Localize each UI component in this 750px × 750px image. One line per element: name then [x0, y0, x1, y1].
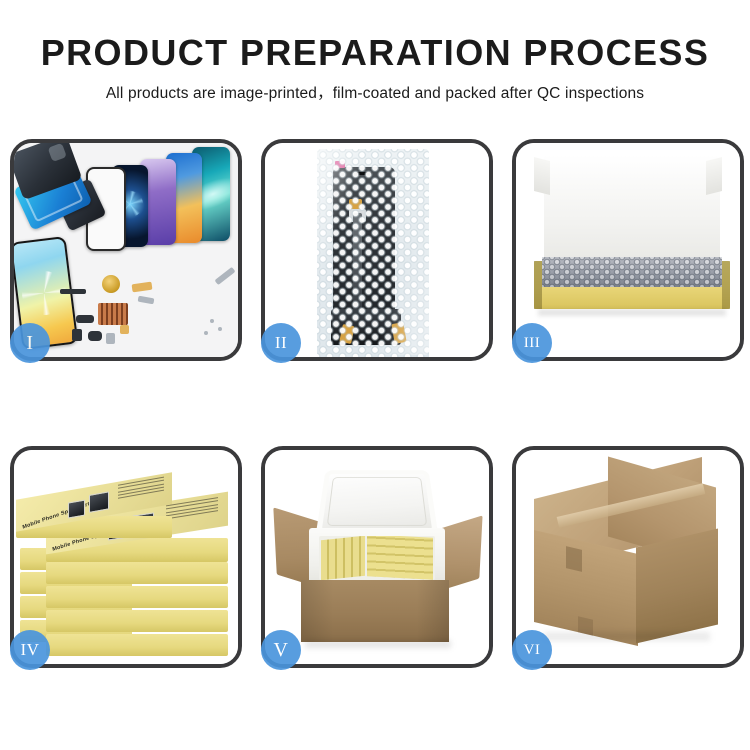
step-image-1: [14, 143, 238, 357]
photo-open-kraft-tray-box: [516, 143, 740, 357]
step-panel-2[interactable]: II: [261, 139, 493, 361]
page-subtitle: All products are image-printed，film-coat…: [0, 81, 750, 103]
stacked-box: [46, 610, 228, 632]
tray-contents: [542, 257, 722, 287]
box-stack: Mobile Phone Spare Parts Mobile Phone Sp…: [16, 468, 238, 658]
photo-stacked-kraft-boxes: Mobile Phone Spare Parts Mobile Phone Sp…: [14, 450, 238, 664]
carton-side-face: [636, 529, 718, 644]
photo-bubble-wrapped-screen: [265, 143, 489, 357]
plastic-sheen: [317, 143, 429, 355]
box-lid-flap-left: [534, 157, 550, 195]
connector-part: [76, 315, 94, 323]
stacked-box: [46, 562, 228, 584]
carton-flap-mark: [566, 546, 582, 572]
ic-chip-part: [98, 303, 128, 325]
packed-yellow-boxes: [321, 536, 365, 580]
carton-shadow: [544, 632, 710, 641]
screw-part: [218, 327, 222, 331]
photo-carton-with-foam-liner: [265, 450, 489, 664]
step-badge-1: I: [10, 323, 50, 363]
screw-part: [204, 331, 208, 335]
box-spec-lines: [166, 497, 218, 522]
box-screen-graphic: [89, 491, 109, 513]
step-panel-3[interactable]: III: [512, 139, 744, 361]
screw-part: [210, 319, 214, 323]
bubble-wrapped-items: [542, 257, 722, 287]
step-badge-2: II: [261, 323, 301, 363]
tray-edge-right: [722, 261, 730, 309]
photo-parts-assortment: [14, 143, 238, 357]
step-image-3: [516, 143, 740, 357]
foam-cavity: [319, 536, 435, 580]
screw-plate-part: [106, 333, 115, 344]
box-spec-lines: [118, 477, 164, 502]
header: PRODUCT PREPARATION PROCESS All products…: [0, 0, 750, 103]
stacked-box: [46, 586, 228, 608]
foam-lid: [316, 470, 439, 535]
box-lid-flap-right: [706, 157, 722, 195]
box-shadow: [538, 309, 726, 316]
step-panel-1[interactable]: I: [10, 139, 242, 361]
tray-edge-left: [534, 261, 542, 309]
photo-sealed-carton: [516, 450, 740, 664]
gold-contact-part: [120, 325, 129, 334]
step-badge-6: VI: [512, 630, 552, 670]
carton-shadow: [305, 640, 451, 648]
page-title: PRODUCT PREPARATION PROCESS: [0, 34, 750, 72]
box-lid-white: [544, 155, 720, 271]
step-panel-5[interactable]: V: [261, 446, 493, 668]
speaker-coil-part: [102, 275, 120, 293]
step-badge-4: IV: [10, 630, 50, 670]
process-steps-grid: I II: [10, 139, 740, 668]
step-badge-5: V: [261, 630, 301, 670]
stacked-box: [46, 634, 228, 656]
camera-module-part: [72, 329, 82, 341]
step-panel-4[interactable]: Mobile Phone Spare Parts Mobile Phone Sp…: [10, 446, 242, 668]
step-image-6: [516, 450, 740, 664]
antenna-strip-part: [60, 289, 86, 294]
taptic-engine-part: [88, 331, 102, 341]
box-screen-graphic: [68, 500, 85, 519]
carton-body: [301, 580, 449, 642]
step-image-2: [265, 143, 489, 357]
step-panel-6[interactable]: VI: [512, 446, 744, 668]
step-badge-3: III: [512, 323, 552, 363]
step-image-4: Mobile Phone Spare Parts Mobile Phone Sp…: [14, 450, 238, 664]
packed-yellow-boxes: [367, 536, 433, 580]
step-image-5: [265, 450, 489, 664]
